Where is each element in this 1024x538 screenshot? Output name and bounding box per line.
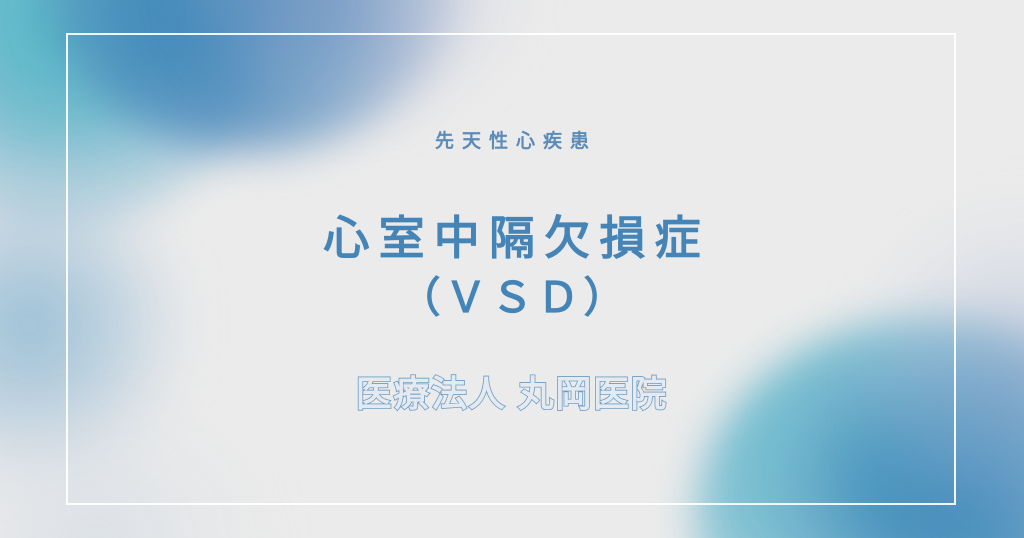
slide-content: 先天性心疾患 心室中隔欠損症 （ＶＳＤ） 医療法人 丸岡医院: [0, 0, 1024, 538]
organization-name: 医療法人 丸岡医院: [0, 371, 1024, 416]
page-title-main: 心室中隔欠損症: [0, 210, 1024, 266]
page-title: 心室中隔欠損症 （ＶＳＤ）: [0, 210, 1024, 323]
page-title-abbreviation: （ＶＳＤ）: [0, 272, 1024, 323]
title-slide: 先天性心疾患 心室中隔欠損症 （ＶＳＤ） 医療法人 丸岡医院: [0, 0, 1024, 538]
category-label: 先天性心疾患: [0, 131, 1024, 154]
